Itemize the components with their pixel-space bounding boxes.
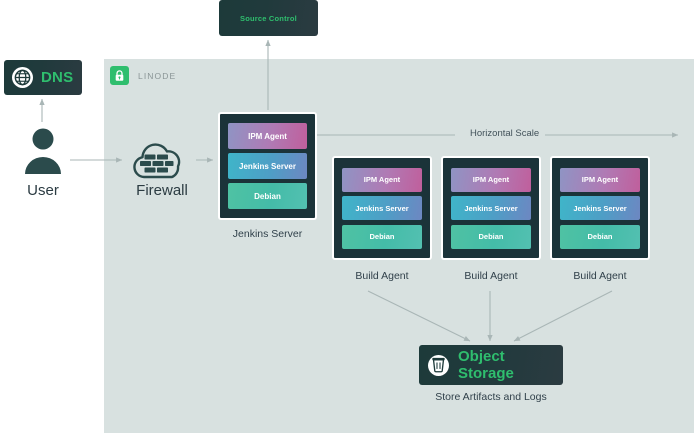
object-storage-caption: Store Artifacts and Logs (400, 391, 582, 403)
firewall-label: Firewall (118, 182, 206, 199)
stack-bar-debian: Debian (342, 225, 422, 249)
horizontal-scale-label: Horizontal Scale (464, 128, 545, 139)
stack-bar-debian: Debian (228, 183, 307, 209)
stack-bar-jenkins-server: Jenkins Server (451, 196, 531, 220)
build-agent-node-3[interactable]: IPM Agent Jenkins Server Debian (550, 156, 650, 260)
user-avatar-icon (22, 126, 64, 174)
dns-label: DNS (41, 69, 73, 86)
globe-icon (12, 67, 33, 88)
stack-bar-debian: Debian (451, 225, 531, 249)
build-agent-caption-1: Build Agent (332, 270, 432, 282)
stack-bar-ipm-agent: IPM Agent (342, 168, 422, 192)
build-agent-node-2[interactable]: IPM Agent Jenkins Server Debian (441, 156, 541, 260)
linode-label: LINODE (138, 71, 176, 81)
jenkins-server-caption: Jenkins Server (218, 228, 317, 240)
source-control-node[interactable]: Source Control (219, 0, 318, 36)
stack-bar-ipm-agent: IPM Agent (451, 168, 531, 192)
architecture-diagram: LINODE Source Control DNS User (0, 0, 694, 433)
dns-node[interactable]: DNS (4, 60, 82, 95)
stack-bar-jenkins-server: Jenkins Server (342, 196, 422, 220)
user-label: User (9, 182, 77, 199)
build-agent-caption-2: Build Agent (441, 270, 541, 282)
stack-bar-ipm-agent: IPM Agent (228, 123, 307, 149)
stack-bar-jenkins-server: Jenkins Server (560, 196, 640, 220)
build-agent-node-1[interactable]: IPM Agent Jenkins Server Debian (332, 156, 432, 260)
stack-bar-ipm-agent: IPM Agent (560, 168, 640, 192)
storage-bucket-icon (428, 355, 449, 376)
object-storage-label: Object Storage (458, 348, 563, 382)
source-control-label: Source Control (240, 14, 297, 23)
linode-header: LINODE (110, 66, 176, 85)
lock-icon (110, 66, 129, 85)
stack-bar-debian: Debian (560, 225, 640, 249)
jenkins-server-node[interactable]: IPM Agent Jenkins Server Debian (218, 112, 317, 220)
build-agent-caption-3: Build Agent (550, 270, 650, 282)
stack-bar-jenkins-server: Jenkins Server (228, 153, 307, 179)
object-storage-node[interactable]: Object Storage (419, 345, 563, 385)
firewall-cloud-icon (128, 141, 190, 181)
